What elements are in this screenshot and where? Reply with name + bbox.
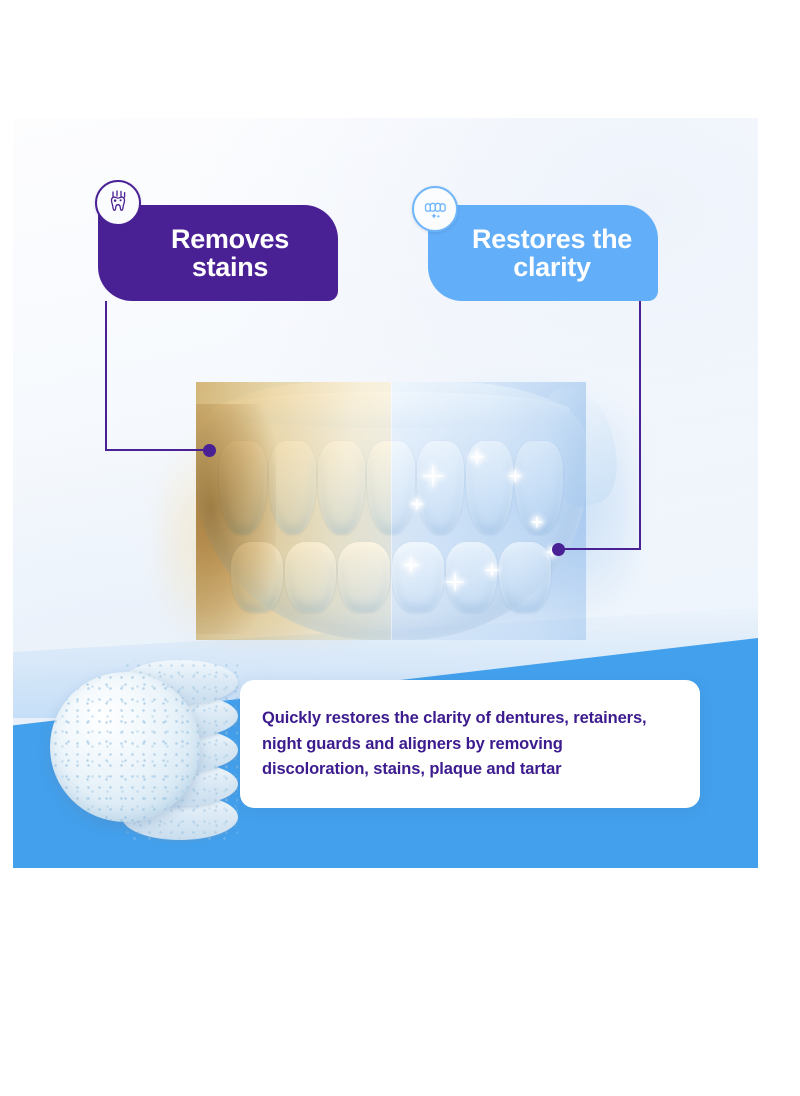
stained-tooth-icon — [95, 180, 141, 226]
infographic-page: Removes stains Restores the clarity — [0, 0, 800, 1096]
stained-half-deep-edge — [196, 404, 276, 634]
aligner-arch — [196, 382, 586, 640]
description-text: Quickly restores the clarity of dentures… — [262, 706, 670, 783]
connector-line-stains-vertical — [105, 301, 107, 451]
badge-removes-stains-label: Removes stains — [171, 225, 289, 282]
clear-half-overlay — [391, 382, 586, 640]
description-card: Quickly restores the clarity of dentures… — [240, 680, 700, 808]
badge-restores-clarity-label: Restores the clarity — [472, 225, 632, 282]
connector-dot-stains — [203, 444, 216, 457]
connector-line-clarity-vertical — [639, 301, 641, 550]
aligner-product-image — [170, 372, 610, 650]
tablet-speckle-texture — [50, 672, 200, 822]
before-after-split-line — [391, 382, 392, 640]
cleaning-tablets — [48, 650, 268, 870]
connector-line-clarity-horizontal — [560, 548, 641, 550]
connector-line-stains-horizontal — [105, 449, 210, 451]
sparkling-teeth-icon — [412, 186, 458, 232]
connector-dot-clarity — [552, 543, 565, 556]
badge-restores-clarity[interactable]: Restores the clarity — [428, 205, 658, 301]
tablet-front-face — [50, 672, 200, 822]
